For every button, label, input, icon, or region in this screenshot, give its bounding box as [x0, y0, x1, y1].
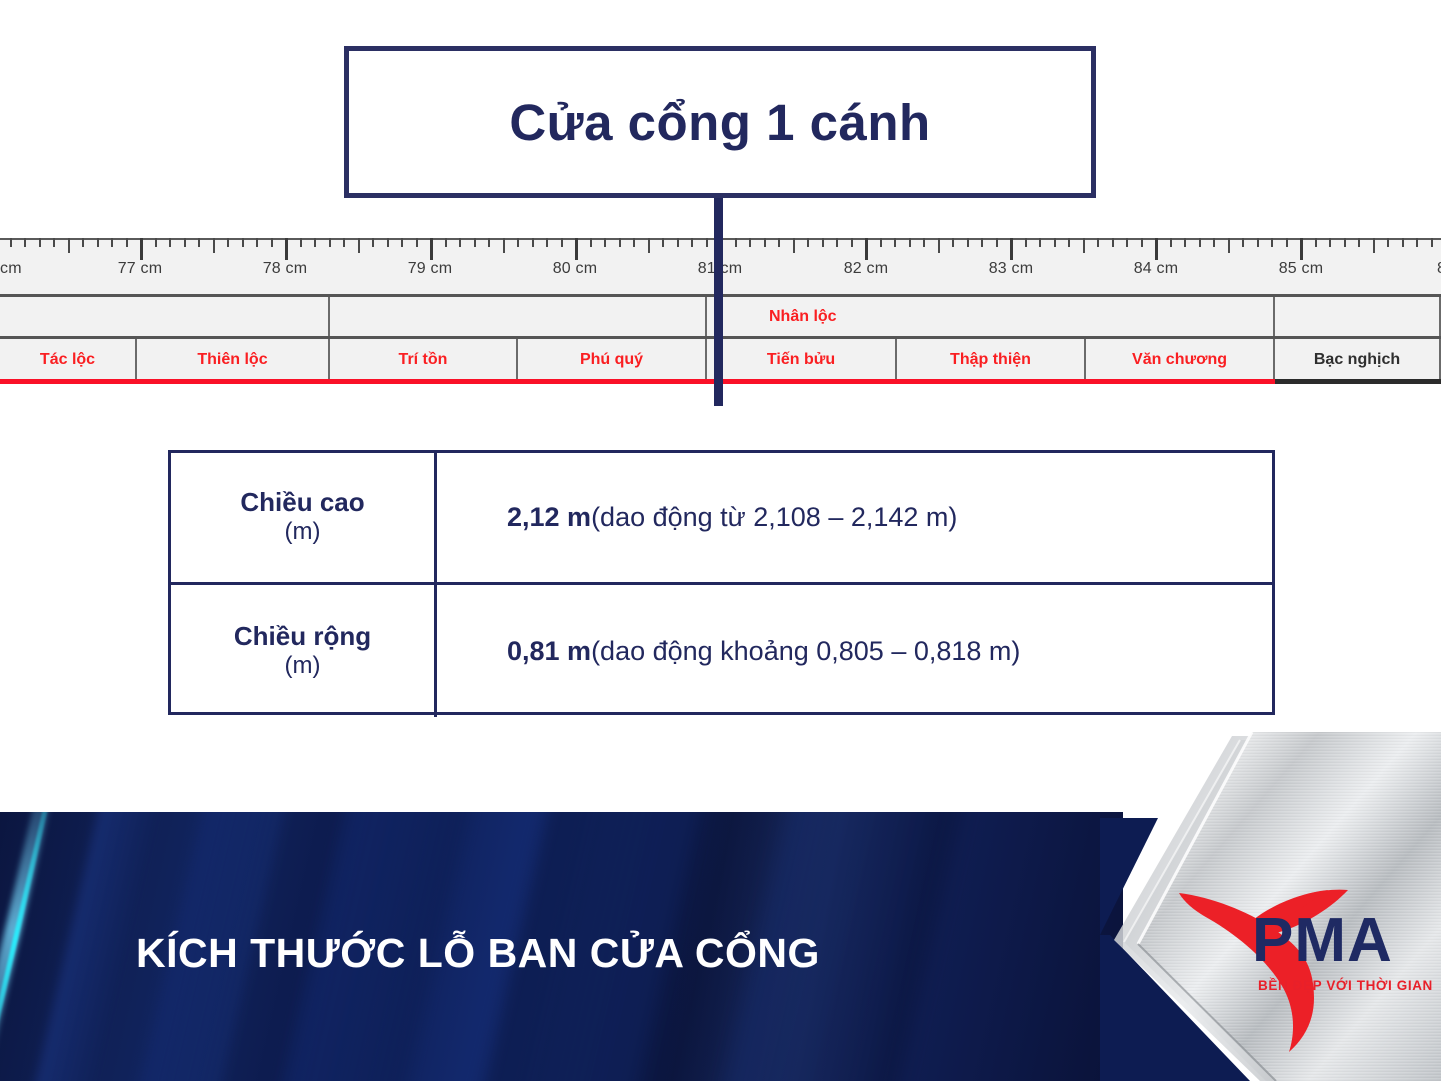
ruler-detail-label: Trí tồn [399, 351, 448, 369]
ruler-tick [923, 238, 925, 247]
ruler-tick [1416, 238, 1418, 247]
ruler-tick [1242, 238, 1244, 247]
ruler-tick [1271, 238, 1273, 247]
ruler-tick [735, 238, 737, 247]
ruler-tick [532, 238, 534, 247]
ruler-tick [1431, 238, 1433, 247]
ruler-tick [68, 238, 70, 253]
ruler-tick [706, 238, 708, 247]
ruler-tick [97, 238, 99, 247]
ruler-tick [10, 238, 12, 247]
ruler-tick [474, 238, 476, 247]
row-label-height: Chiều cao (m) [171, 453, 437, 582]
ruler-tick [822, 238, 824, 247]
ruler-tick [1025, 238, 1027, 247]
ruler-tick [1126, 238, 1128, 247]
ruler-tick [430, 238, 433, 260]
ruler-group-cell [0, 297, 330, 336]
ruler-tick [24, 238, 26, 247]
row-label-line1: Chiều cao [240, 488, 364, 518]
ruler-tick [198, 238, 200, 247]
ruler-tick [111, 238, 113, 247]
ruler-cm-label: 80 cm [553, 260, 598, 278]
row-label-width: Chiều rộng (m) [171, 585, 437, 717]
ruler-tick [53, 238, 55, 247]
ruler-tick [981, 238, 983, 247]
ruler-tick [271, 238, 273, 247]
ruler-tick [300, 238, 302, 247]
ruler-cm-label: 82 cm [844, 260, 889, 278]
ruler-cm-label: 8 [1437, 260, 1441, 278]
ruler-tick [1358, 238, 1360, 247]
ruler-tick [1402, 238, 1404, 247]
ruler-tick [358, 238, 360, 253]
dimension-table: Chiều cao (m) 2,12 m (dao động từ 2,108 … [168, 450, 1275, 715]
ruler-detail-cell: Thiên lộc [137, 339, 330, 380]
brand-logo: PMA BỀN ĐẸP VỚI THỜI GIAN [1100, 730, 1441, 1081]
ruler-tick [604, 238, 606, 247]
slide-canvas: Cửa cổng 1 cánh cm77 cm78 cm79 cm80 cm81… [0, 0, 1441, 1081]
ruler-tick [1387, 238, 1389, 247]
ruler-tick [488, 238, 490, 247]
ruler-detail-cell: Tiến bửu [707, 339, 897, 380]
ruler-tick [996, 238, 998, 247]
ruler-tick [836, 238, 838, 247]
row-value-width: 0,81 m (dao động khoảng 0,805 – 0,818 m) [437, 585, 1272, 717]
ruler-cm-label: 79 cm [408, 260, 453, 278]
ruler-cm-label: cm [0, 260, 22, 278]
ruler-tick [546, 238, 548, 247]
ruler-tick [865, 238, 868, 260]
ruler-cm-label: 83 cm [989, 260, 1034, 278]
ruler-detail-cell: Trí tồn [330, 339, 518, 380]
ruler-tick [285, 238, 288, 260]
ruler-tick [1010, 238, 1013, 260]
ruler-tick [1112, 238, 1114, 247]
row-value-primary: 0,81 m [507, 636, 591, 667]
row-label-unit: (m) [285, 652, 321, 681]
footer-banner: KÍCH THƯỚC LỖ BAN CỬA CỔNG [0, 812, 1123, 1081]
ruler-tick [1373, 238, 1375, 253]
ruler-tick [242, 238, 244, 247]
ruler-tick [1344, 238, 1346, 247]
ruler-tick [1228, 238, 1230, 253]
ruler-tick [633, 238, 635, 247]
row-value-range: (dao động từ 2,108 – 2,142 m) [591, 502, 957, 533]
ruler-tick [938, 238, 940, 253]
ruler-tick [445, 238, 447, 247]
ruler-detail-cell: Văn chương [1086, 339, 1275, 380]
ruler-tick [1068, 238, 1070, 247]
ruler-tick [517, 238, 519, 247]
ruler-tick [590, 238, 592, 247]
ruler-pointer-line [714, 198, 723, 406]
ruler-tick [1286, 238, 1288, 247]
ruler-cm-label: 84 cm [1134, 260, 1179, 278]
ruler-tick [372, 238, 374, 247]
ruler-tick [1257, 238, 1259, 247]
ruler-detail-cell: Thập thiện [897, 339, 1086, 380]
ruler-tick [1184, 238, 1186, 247]
ruler-tick [1170, 238, 1172, 247]
ruler-detail-label: Tác lộc [40, 351, 95, 369]
ruler-tick [952, 238, 954, 247]
ruler-tick [909, 238, 911, 247]
table-row: Chiều rộng (m) 0,81 m (dao động khoảng 0… [171, 585, 1272, 717]
ruler-group-cell [330, 297, 707, 336]
ruler-group-cell: Nhân lộc [707, 297, 1275, 336]
ruler-detail-label: Thiên lộc [197, 351, 267, 369]
footer-title: KÍCH THƯỚC LỖ BAN CỬA CỔNG [136, 930, 820, 977]
ruler-tick [126, 238, 128, 247]
ruler-tick [39, 238, 41, 247]
table-row: Chiều cao (m) 2,12 m (dao động từ 2,108 … [171, 453, 1272, 585]
ruler-baseline-dark [1275, 379, 1441, 384]
ruler-detail-cell: Phú quý [518, 339, 707, 380]
ruler-tick [807, 238, 809, 247]
ruler-tick [894, 238, 896, 247]
ruler-tick [329, 238, 331, 247]
ruler-tick [155, 238, 157, 247]
ruler-tick [1315, 238, 1317, 247]
ruler-cm-label: 78 cm [263, 260, 308, 278]
ruler-detail-label: Tiến bửu [767, 351, 835, 369]
ruler-tick [401, 238, 403, 247]
ruler-tick [256, 238, 258, 247]
ruler-detail-cell: Tác lộc [0, 339, 137, 380]
ruler-tick [82, 238, 84, 247]
row-label-unit: (m) [285, 518, 321, 547]
ruler-tick [677, 238, 679, 247]
ruler-cm-label: 85 cm [1279, 260, 1324, 278]
ruler-tick [778, 238, 780, 247]
ruler-tick [1213, 238, 1215, 247]
ruler-tick [1300, 238, 1303, 260]
ruler-tick [314, 238, 316, 247]
row-label-line1: Chiều rộng [234, 622, 371, 652]
ruler-tick [749, 238, 751, 247]
ruler-tick [503, 238, 505, 253]
ruler-tick [1083, 238, 1085, 253]
ruler-detail-label: Thập thiện [950, 351, 1031, 369]
ruler-tick [561, 238, 563, 247]
ruler-tick [619, 238, 621, 247]
ruler-detail-label: Phú quý [580, 351, 643, 369]
ruler-tick [575, 238, 578, 260]
ruler-detail-cell: Bạc nghịch [1275, 339, 1441, 380]
row-value-height: 2,12 m (dao động từ 2,108 – 2,142 m) [437, 453, 1272, 582]
ruler-tick [387, 238, 389, 247]
row-value-primary: 2,12 m [507, 502, 591, 533]
ruler-tick [227, 238, 229, 247]
ruler-tick [140, 238, 143, 260]
ruler-tick [793, 238, 795, 253]
ruler-tick [1097, 238, 1099, 247]
ruler-tick [1155, 238, 1158, 260]
ruler-tick [662, 238, 664, 247]
ruler-group-cell [1275, 297, 1441, 336]
ruler-detail-label: Văn chương [1132, 351, 1227, 369]
ruler-tick [1141, 238, 1143, 247]
ruler-tick [343, 238, 345, 247]
ruler-tick [184, 238, 186, 247]
ruler-detail-label: Bạc nghịch [1314, 351, 1400, 369]
logo-wordmark: PMA [1252, 910, 1393, 972]
ruler-tick [459, 238, 461, 247]
ruler-tick [851, 238, 853, 247]
ruler-tick [691, 238, 693, 247]
ruler-tick [1199, 238, 1201, 247]
logo-tagline: BỀN ĐẸP VỚI THỜI GIAN [1258, 978, 1433, 993]
page-title: Cửa cổng 1 cánh [509, 93, 930, 152]
ruler-baseline-red [0, 379, 1275, 384]
row-value-range: (dao động khoảng 0,805 – 0,818 m) [591, 636, 1020, 667]
ruler-tick [1054, 238, 1056, 247]
ruler-tick [213, 238, 215, 253]
ruler-cm-label: 77 cm [118, 260, 163, 278]
ruler-tick [416, 238, 418, 247]
ruler-tick [880, 238, 882, 247]
ruler-tick [1329, 238, 1331, 247]
ruler-group-label: Nhân lộc [707, 308, 837, 326]
ruler-tick [967, 238, 969, 247]
ruler-tick [169, 238, 171, 247]
ruler-tick [1039, 238, 1041, 247]
ruler-tick [648, 238, 650, 253]
title-callout-box: Cửa cổng 1 cánh [344, 46, 1096, 198]
ruler-tick [764, 238, 766, 247]
